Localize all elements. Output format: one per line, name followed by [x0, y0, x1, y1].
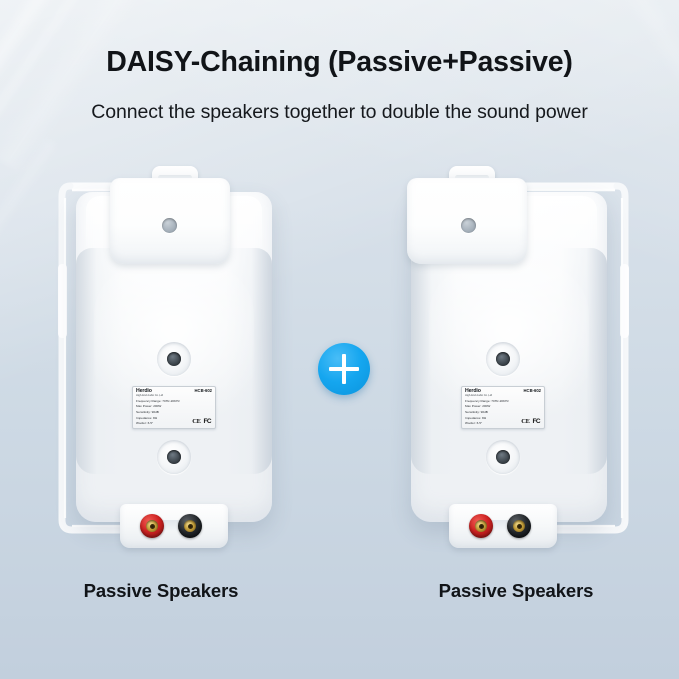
mounting-hole-icon — [461, 218, 476, 233]
cabinet-shading-left — [411, 248, 457, 474]
cabinet-shading-right — [226, 248, 272, 474]
page-subtitle: Connect the speakers together to double … — [0, 101, 679, 124]
speaker-caption-right: Passive Speakers — [386, 580, 646, 602]
page-title: DAISY-Chaining (Passive+Passive) — [0, 46, 679, 79]
speaker-caption-left: Passive Speakers — [31, 580, 291, 602]
rear-top-panel — [407, 178, 527, 264]
plus-badge-icon — [318, 343, 370, 395]
mounting-hole-icon — [162, 218, 177, 233]
cabinet-waist-highlight — [94, 254, 254, 454]
speaker-unit-left: Herdio High-End Audio Co.,Ltd HCB-602 Fr… — [48, 168, 298, 558]
background-streak — [0, 0, 190, 176]
cabinet-shading-left — [76, 248, 122, 474]
speaker-unit-right: Herdio High-End Audio Co.,Ltd HCB-602 Fr… — [389, 168, 639, 558]
cabinet-shading-right — [561, 248, 607, 474]
infographic-canvas: DAISY-Chaining (Passive+Passive) Connect… — [0, 0, 679, 679]
cabinet-waist-highlight — [429, 254, 589, 454]
rear-top-panel — [110, 178, 230, 264]
